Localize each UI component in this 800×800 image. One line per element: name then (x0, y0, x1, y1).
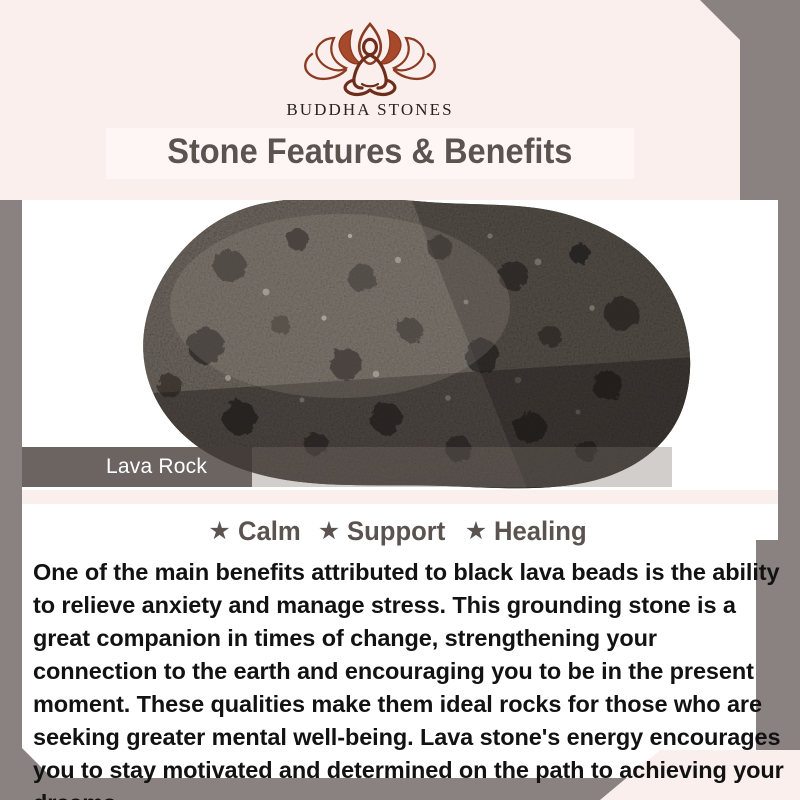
feature-label: Support (347, 516, 445, 547)
star-icon: ★ (318, 519, 340, 544)
benefits-paragraph: One of the main benefits attributed to b… (33, 556, 785, 800)
star-icon: ★ (465, 519, 487, 544)
page-title: Stone Features & Benefits (167, 132, 572, 172)
star-icon: ★ (208, 519, 230, 544)
feature-label: Healing (494, 516, 587, 547)
feature-item-support: ★ Support (318, 516, 451, 547)
title-plate: Stone Features & Benefits (106, 128, 634, 179)
caption-band-extension (252, 447, 672, 487)
stone-caption-band: Lava Rock (22, 447, 252, 487)
feature-list: ★ Calm ★ Support ★ Healing (22, 516, 778, 547)
section-divider (22, 490, 778, 504)
lotus-meditation-icon (290, 16, 450, 98)
poster-root: BUDDHA STONES Stone Features & Benefits (0, 0, 800, 800)
feature-item-healing: ★ Healing (465, 516, 592, 547)
feature-label: Calm (238, 516, 301, 547)
stone-caption-label: Lava Rock (106, 455, 207, 479)
brand-header: BUDDHA STONES Stone Features & Benefits (0, 0, 740, 200)
brand-name: BUDDHA STONES (286, 100, 453, 120)
feature-item-calm: ★ Calm (208, 516, 303, 547)
